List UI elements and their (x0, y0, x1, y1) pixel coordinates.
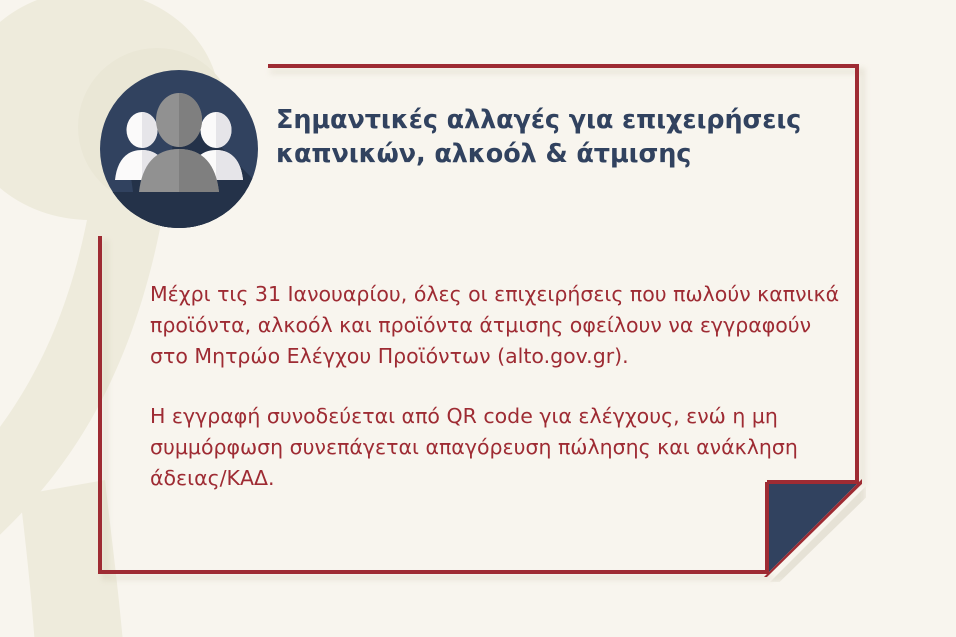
frame-bottom-border (98, 570, 769, 574)
card-title: Σημαντικές αλλαγές για επιχειρήσεις καπν… (276, 104, 836, 171)
body-paragraph-1: Μέχρι τις 31 Ιανουαρίου, όλες οι επιχειρ… (150, 279, 850, 372)
frame-right-shadow (860, 68, 865, 486)
frame-left-border (98, 236, 102, 574)
infographic-card: Σημαντικές αλλαγές για επιχειρήσεις καπν… (0, 0, 956, 637)
frame-right-border (855, 64, 859, 484)
frame-bottom-shadow (102, 575, 773, 580)
frame-top-border (268, 64, 859, 68)
card-body: Μέχρι τις 31 Ιανουαρίου, όλες οι επιχειρ… (150, 258, 850, 515)
frame-top-shadow (270, 69, 861, 74)
frame-left-shadow (103, 240, 108, 576)
people-group-icon (100, 70, 258, 228)
body-paragraph-2: Η εγγραφή συνοδεύεται από QR code για ελ… (150, 401, 850, 494)
